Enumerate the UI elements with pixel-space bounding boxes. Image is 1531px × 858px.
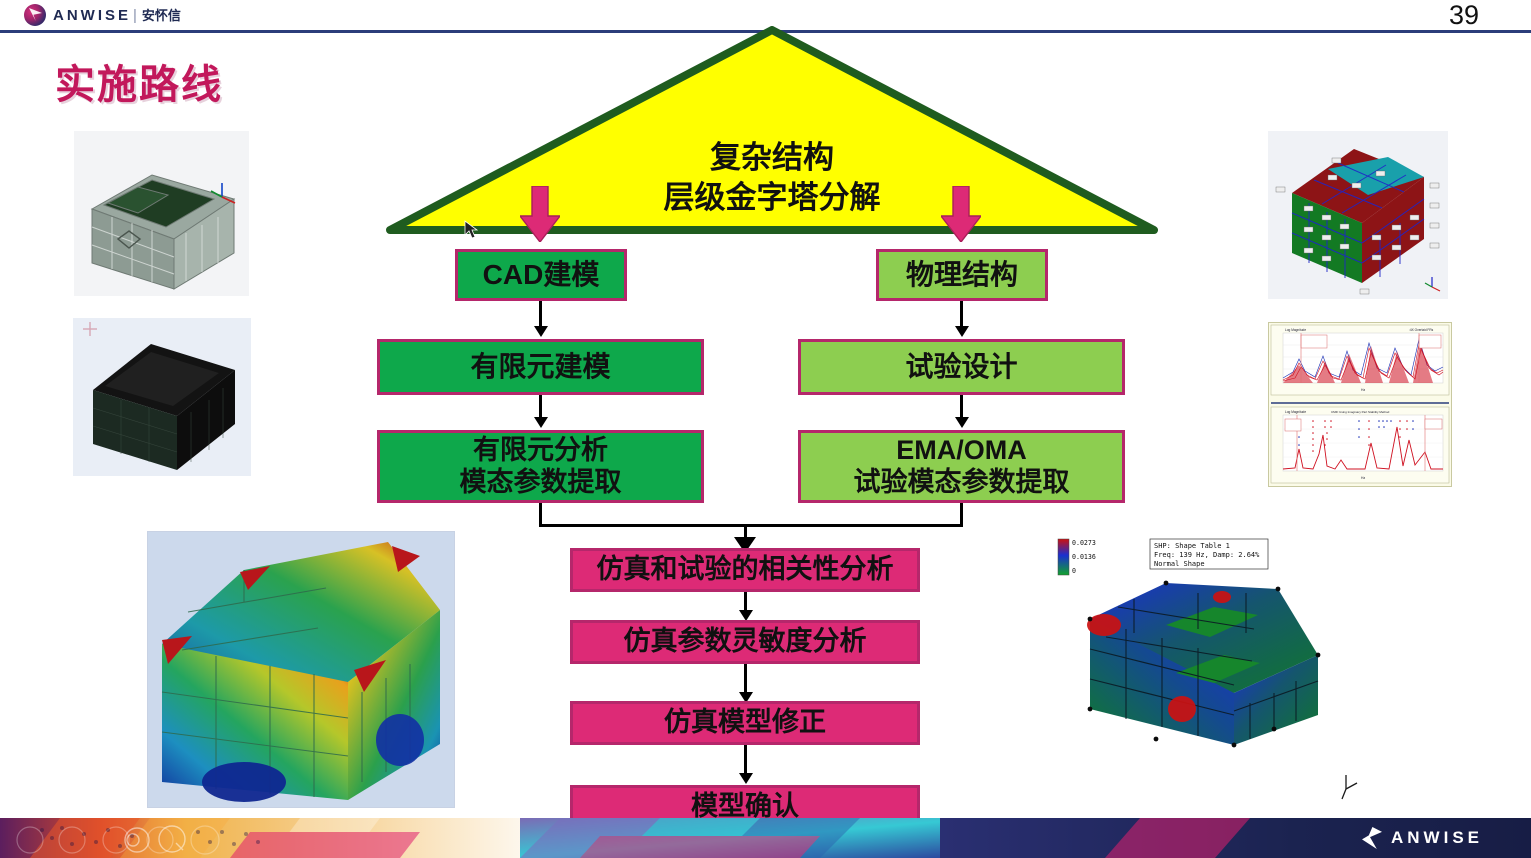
pyramid-to-physical-structure-arrow — [941, 186, 981, 242]
connector-fe-modeling-to-fe-analysis — [539, 395, 542, 419]
flow-box-test-design-label: 试验设计 — [905, 350, 1017, 383]
flow-box-sensitivity-analysis-label: 仿真参数灵敏度分析 — [624, 626, 867, 658]
connector-physical-to-test-design — [960, 301, 963, 328]
svg-text:CMIF Using Imaginary Part Stab: CMIF Using Imaginary Part Stability Meth… — [1331, 410, 1390, 414]
flow-box-fe-analysis-label-line1: 有限元分析 — [473, 435, 608, 467]
connector-cad-to-fe-modeling — [539, 301, 542, 328]
svg-text:Hz: Hz — [1361, 476, 1365, 480]
finite-element-mesh-dark-model-image — [73, 318, 251, 476]
flow-box-physical-structure[interactable]: 物理结构 — [876, 249, 1048, 301]
flow-box-model-updating-label: 仿真模型修正 — [664, 707, 826, 739]
flow-box-cad-modeling-label: CAD建模 — [483, 258, 600, 291]
connector-updating-to-validation-arrow — [739, 773, 753, 784]
connector-physical-to-test-design-arrow — [955, 326, 969, 337]
mode-shape-annotation-box: SHP: Shape Table 1 Freq: 139 Hz, Damp: 2… — [1150, 539, 1268, 569]
footer-brand-name: ANWISE — [1391, 828, 1483, 848]
modal-stability-diagram-plot: Log Magnitude CMIF Using Imaginary Part … — [1271, 407, 1449, 483]
svg-text:SHP: Shape Table 1: SHP: Shape Table 1 — [1154, 542, 1230, 550]
frf-and-stability-plots-image: Log Magnitude :4X Overlaid FRs Hz — [1268, 322, 1452, 487]
footer-brand-logo: ANWISE — [1362, 827, 1483, 849]
flow-box-correlation-analysis[interactable]: 仿真和试验的相关性分析 — [570, 548, 920, 592]
fe-modal-contour-plot-image — [147, 531, 455, 808]
flow-box-fe-modeling[interactable]: 有限元建模 — [377, 339, 704, 395]
brand-logo: ANWISE|安怀信 — [24, 4, 181, 26]
svg-text:Log Magnitude: Log Magnitude — [1285, 410, 1306, 414]
brand-separator: | — [133, 7, 140, 24]
merge-horizontal-bar — [539, 524, 963, 527]
slide-footer: ANWISE — [0, 818, 1531, 858]
anwise-bird-logo-icon — [24, 4, 46, 26]
connector-test-design-to-ema-oma-arrow — [955, 417, 969, 428]
flow-box-test-design[interactable]: 试验设计 — [798, 339, 1125, 395]
brand-logo-text: ANWISE|安怀信 — [53, 8, 181, 23]
flow-box-cad-modeling[interactable]: CAD建模 — [455, 249, 627, 301]
mouse-pointer-icon — [464, 220, 480, 240]
svg-text:Normal Shape: Normal Shape — [1154, 560, 1205, 568]
frf-log-magnitude-overlay-plot: Log Magnitude :4X Overlaid FRs Hz — [1271, 325, 1449, 395]
svg-text:Freq: 139 Hz, Damp: 2.64%: Freq: 139 Hz, Damp: 2.64% — [1154, 551, 1260, 559]
flow-box-fe-analysis[interactable]: 有限元分析 模态参数提取 — [377, 430, 704, 503]
svg-text:0.0136: 0.0136 — [1072, 553, 1096, 561]
pyramid-to-cad-arrow — [520, 186, 560, 242]
svg-text::4X Overlaid FRs: :4X Overlaid FRs — [1409, 328, 1434, 332]
experimental-mode-shape-3d-image: 0.0273 0.0136 0 SHP: Shape Table 1 Freq:… — [1046, 533, 1364, 804]
flow-box-sensitivity-analysis[interactable]: 仿真参数灵敏度分析 — [570, 620, 920, 664]
pyramid-label-line2: 层级金字塔分解 — [386, 178, 1158, 218]
flow-box-correlation-analysis-label: 仿真和试验的相关性分析 — [597, 554, 894, 586]
pyramid-shape: 复杂结构 层级金字塔分解 — [386, 26, 1158, 234]
svg-text:0: 0 — [1072, 567, 1076, 575]
flow-box-ema-oma[interactable]: EMA/OMA 试验模态参数提取 — [798, 430, 1125, 503]
flow-box-ema-oma-label-line1: EMA/OMA — [896, 435, 1027, 467]
flow-box-model-updating[interactable]: 仿真模型修正 — [570, 701, 920, 745]
page-number: 39 — [1449, 0, 1479, 31]
flow-box-physical-structure-label: 物理结构 — [906, 258, 1018, 291]
svg-text:0.0273: 0.0273 — [1072, 539, 1096, 547]
anwise-bird-logo-icon — [1362, 827, 1382, 849]
brand-name-cn: 安怀信 — [142, 8, 181, 23]
test-point-layout-3d-box-image — [1268, 131, 1448, 299]
pyramid-label-block: 复杂结构 层级金字塔分解 — [386, 138, 1158, 217]
page-title: 实施路线 — [55, 52, 223, 110]
cad-geometry-box-structure-image — [74, 131, 249, 296]
connector-cad-to-fe-modeling-arrow — [534, 326, 548, 337]
connector-correlation-to-sensitivity — [744, 592, 747, 612]
svg-text:Log Magnitude: Log Magnitude — [1285, 328, 1306, 332]
flow-box-fe-modeling-label: 有限元建模 — [470, 350, 610, 383]
slide-root: ANWISE|安怀信 39 实施路线 — [0, 0, 1531, 858]
brand-name-en: ANWISE — [53, 7, 131, 24]
connector-test-design-to-ema-oma — [960, 395, 963, 419]
flow-box-fe-analysis-label-line2: 模态参数提取 — [460, 467, 622, 499]
pyramid-label-line1: 复杂结构 — [386, 138, 1158, 178]
connector-fe-modeling-to-fe-analysis-arrow — [534, 417, 548, 428]
flow-box-ema-oma-label-line2: 试验模态参数提取 — [854, 467, 1070, 499]
svg-text:Hz: Hz — [1361, 388, 1365, 392]
footer-decorative-band — [0, 818, 1531, 858]
